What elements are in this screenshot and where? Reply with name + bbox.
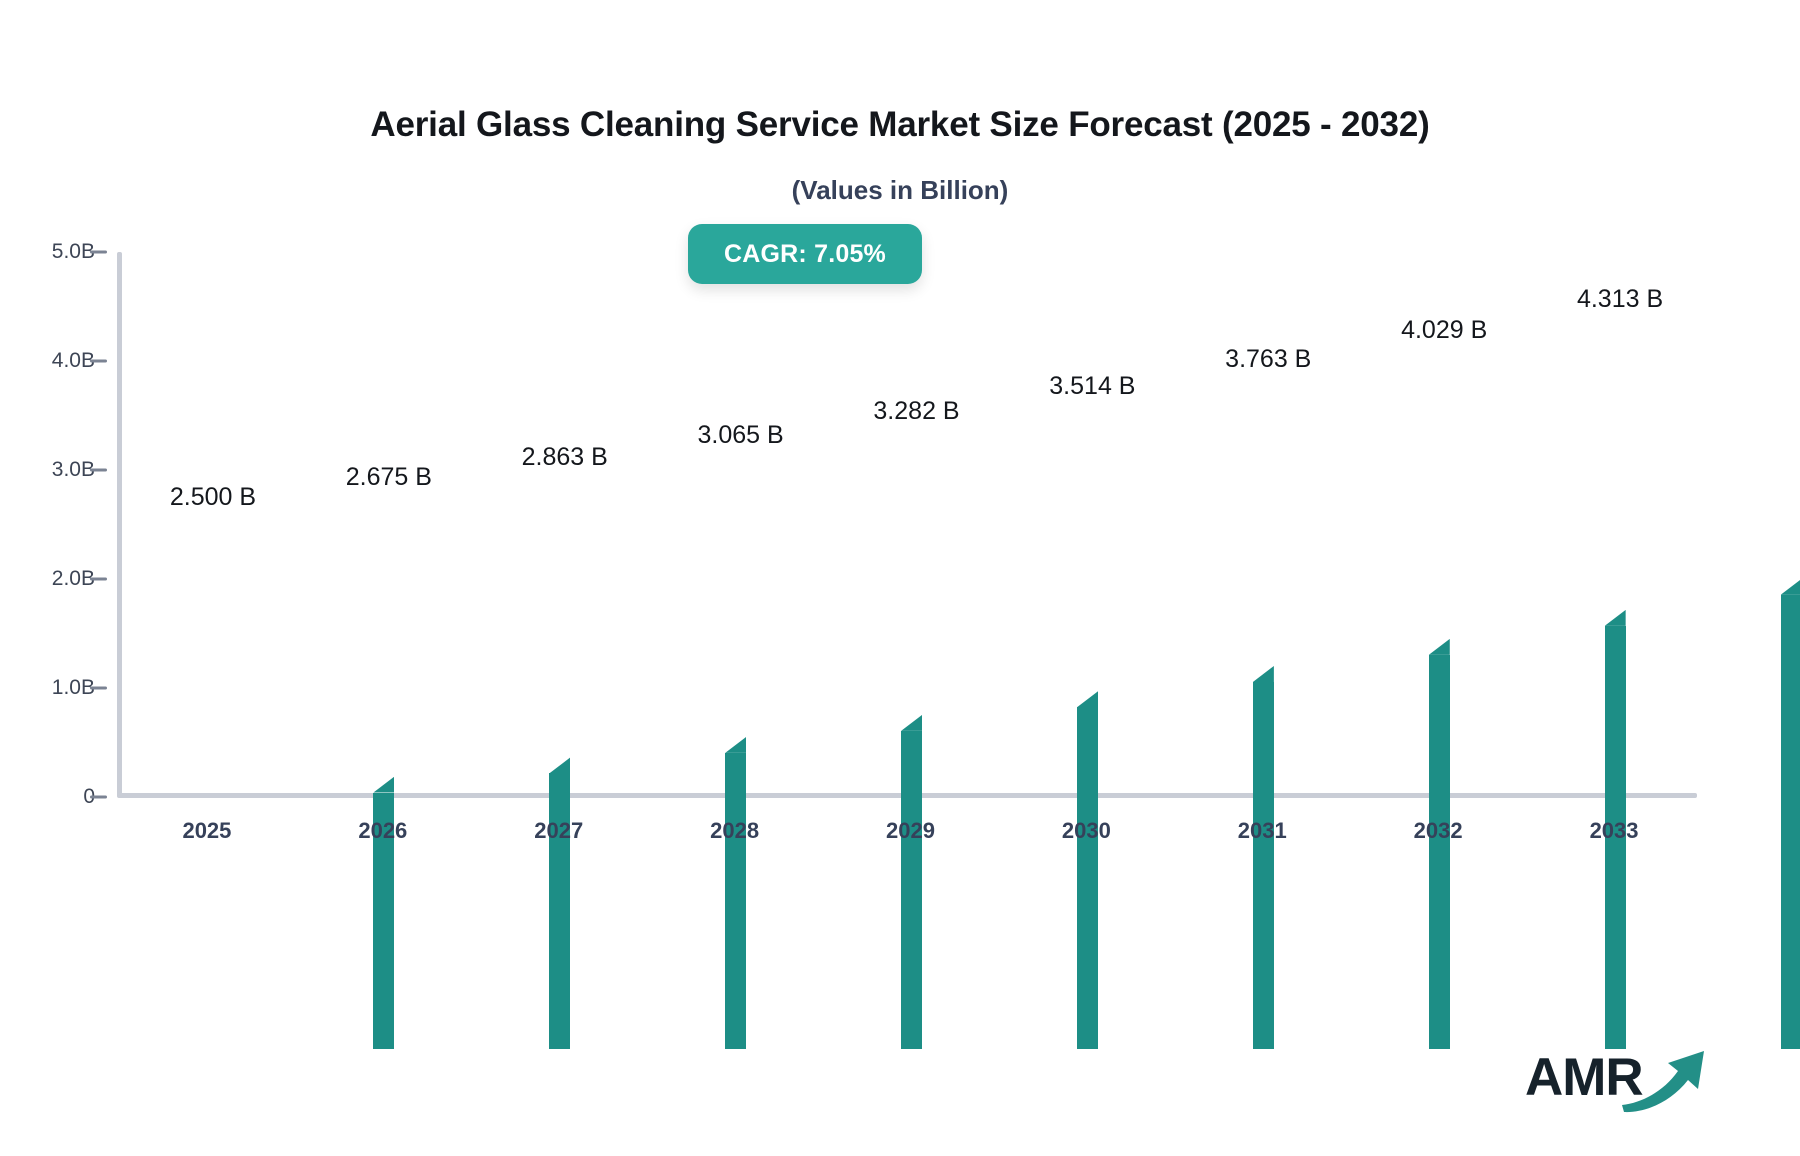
bar-top-bevel bbox=[1077, 691, 1098, 707]
bar-side-face bbox=[1077, 707, 1098, 1049]
y-tick-label: 1.0B bbox=[5, 676, 95, 700]
bar-2030[interactable] bbox=[1141, 666, 1253, 1049]
y-tick-label: 5.0B bbox=[5, 240, 95, 264]
y-tick-label: 2.0B bbox=[5, 567, 95, 591]
bar-top-bevel bbox=[725, 737, 746, 753]
bar-side-face bbox=[1253, 682, 1274, 1049]
y-tick-label: 3.0B bbox=[5, 458, 95, 482]
bar-side-face bbox=[901, 731, 922, 1049]
bar-side-face bbox=[549, 773, 570, 1049]
amr-logo: AMR bbox=[1525, 1045, 1705, 1120]
bar-side-face bbox=[1781, 595, 1800, 1049]
bar-side-face bbox=[1429, 655, 1450, 1049]
bar-top-bevel bbox=[1781, 579, 1800, 595]
chart-card: Aerial Glass Cleaning Service Market Siz… bbox=[0, 0, 1800, 1156]
y-tick-label: 0 bbox=[5, 785, 95, 809]
growth-arrow-icon bbox=[1620, 1045, 1710, 1115]
bar-2028[interactable] bbox=[789, 715, 901, 1049]
chart-title: Aerial Glass Cleaning Service Market Siz… bbox=[0, 105, 1800, 145]
bar-value-label: 4.313 B bbox=[1510, 285, 1730, 314]
y-tick-label: 4.0B bbox=[5, 349, 95, 373]
bar-value-label: 3.514 B bbox=[982, 372, 1202, 401]
bar-value-label: 3.282 B bbox=[807, 397, 1027, 426]
bar-top-bevel bbox=[373, 777, 394, 793]
bar-value-label: 3.763 B bbox=[1158, 345, 1378, 374]
y-tick-dash bbox=[90, 469, 107, 472]
y-tick-dash bbox=[90, 687, 107, 690]
bar-top-bevel bbox=[1605, 610, 1626, 626]
y-tick-dash bbox=[90, 796, 107, 799]
bar-top-bevel bbox=[1253, 666, 1274, 682]
x-tick-label-2033: 2033 bbox=[1504, 818, 1724, 844]
bar-top-bevel bbox=[549, 757, 570, 773]
bar-top-bevel bbox=[1429, 639, 1450, 655]
bar-side-face bbox=[725, 753, 746, 1049]
y-tick-dash bbox=[90, 578, 107, 581]
bar-2033[interactable] bbox=[1669, 579, 1781, 1049]
bar-value-label: 4.029 B bbox=[1334, 316, 1554, 345]
bar-2029[interactable] bbox=[965, 691, 1077, 1049]
bar-2026[interactable] bbox=[437, 757, 549, 1049]
chart-subtitle: (Values in Billion) bbox=[0, 175, 1800, 206]
bar-2027[interactable] bbox=[613, 737, 725, 1049]
y-tick-dash bbox=[90, 251, 107, 254]
bar-top-bevel bbox=[901, 715, 922, 731]
y-tick-dash bbox=[90, 360, 107, 363]
